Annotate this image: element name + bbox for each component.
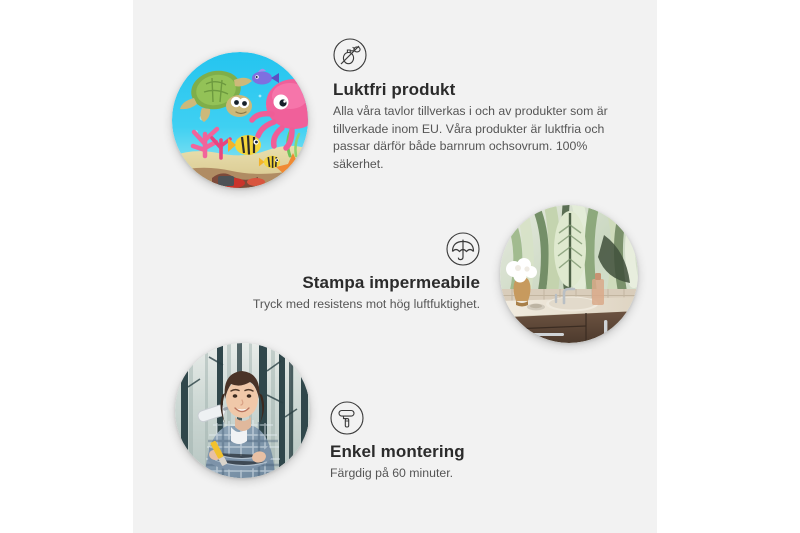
photo-bathroom-tropical-wallpaper xyxy=(500,205,638,343)
feature-waterproof: Stampa impermeabile Tryck med resistens … xyxy=(195,232,480,314)
photo-woman-paint-roller-forest xyxy=(175,343,310,478)
no-perfume-spray-icon xyxy=(333,38,367,72)
feature-assembly-title: Enkel montering xyxy=(330,441,600,462)
feature-odourless: Luktfri produkt Alla våra tavlor tillver… xyxy=(333,38,633,173)
umbrella-icon xyxy=(446,232,480,266)
photo-underwater-mural xyxy=(172,52,308,188)
feature-waterproof-body: Tryck med resistens mot hög luftfuktighe… xyxy=(195,296,480,313)
feature-assembly: Enkel montering Färgdig på 60 minuter. xyxy=(330,401,600,483)
feature-waterproof-title: Stampa impermeabile xyxy=(195,272,480,293)
feature-assembly-body: Färgdig på 60 minuter. xyxy=(330,465,600,482)
feature-assembly-icon-wrap xyxy=(330,401,600,435)
feature-waterproof-icon-wrap xyxy=(195,232,480,266)
feature-odourless-body: Alla våra tavlor tillverkas i och av pro… xyxy=(333,103,633,173)
screenshot-root: Luktfri produkt Alla våra tavlor tillver… xyxy=(0,0,800,533)
feature-odourless-title: Luktfri produkt xyxy=(333,79,633,100)
feature-odourless-icon-wrap xyxy=(333,38,633,72)
paint-roller-icon xyxy=(330,401,364,435)
